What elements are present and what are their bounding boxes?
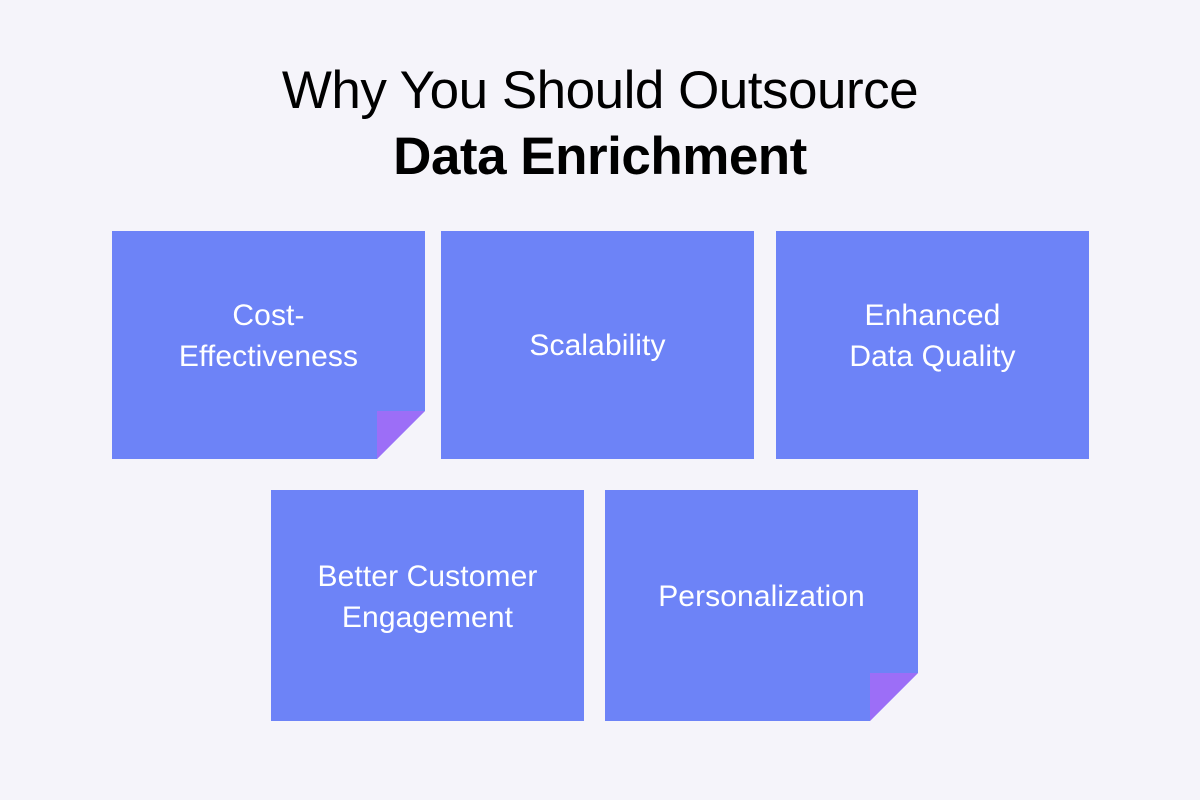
- infographic-canvas: Why You Should Outsource Data Enrichment…: [0, 0, 1200, 800]
- page-title: Why You Should Outsource Data Enrichment: [0, 58, 1200, 190]
- benefit-card-enhanced-data-quality[interactable]: Enhanced Data Quality: [776, 231, 1089, 459]
- benefit-card-better-customer-engagement[interactable]: Better Customer Engagement: [271, 490, 584, 721]
- benefit-card-label: Better Customer Engagement: [304, 556, 552, 638]
- benefit-card-label: Cost- Effectiveness: [165, 295, 372, 377]
- folded-corner-icon: [377, 411, 425, 459]
- benefit-card-cost-effectiveness[interactable]: Cost- Effectiveness: [112, 231, 425, 459]
- folded-corner-icon: [870, 673, 918, 721]
- benefit-card-personalization[interactable]: Personalization: [605, 490, 918, 721]
- page-title-line-1: Why You Should Outsource: [0, 58, 1200, 124]
- benefit-card-label: Scalability: [515, 325, 679, 366]
- benefit-card-label: Personalization: [644, 576, 879, 617]
- page-title-line-2: Data Enrichment: [0, 124, 1200, 190]
- benefit-card-label: Enhanced Data Quality: [835, 295, 1029, 377]
- benefit-card-scalability[interactable]: Scalability: [441, 231, 754, 459]
